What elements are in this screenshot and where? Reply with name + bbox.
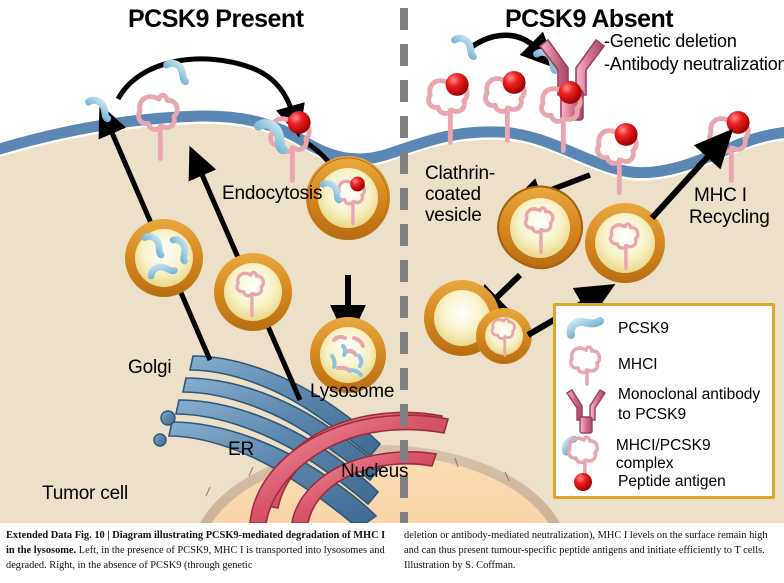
pcsk9-icon — [566, 316, 606, 342]
legend-item-antibody: Monoclonal antibody to PCSK9 — [566, 386, 760, 436]
pcsk9-molecule-right — [454, 36, 473, 60]
panel-title-right: PCSK9 Absent — [505, 6, 673, 32]
figure-canvas: PCSK9 Present PCSK9 Absent -Genetic dele… — [0, 0, 784, 523]
legend-item-mhc1: MHCI — [566, 344, 658, 386]
label-mhc1-recycling-line1: MHC I — [694, 186, 747, 206]
figure-page: PCSK9 Present PCSK9 Absent -Genetic dele… — [0, 0, 784, 583]
label-mhc1-recycling-line2: Recycling — [689, 208, 770, 228]
monoclonal-antibody — [540, 40, 604, 120]
label-golgi: Golgi — [128, 358, 171, 378]
vesicle-pcsk9 — [125, 219, 203, 297]
arrow-pcsk9-binding — [118, 59, 292, 112]
legend-item-peptide-antigen: Peptide antigen — [566, 470, 726, 494]
legend-label-peptide-antigen: Peptide antigen — [618, 473, 726, 491]
pcsk9-molecule-top — [166, 61, 185, 85]
antibody-icon — [566, 386, 606, 436]
label-endocytosis: Endocytosis — [222, 184, 322, 204]
vesicle-mhc1 — [214, 253, 292, 331]
pcsk9-molecule-left — [88, 98, 107, 122]
label-er: ER — [228, 440, 254, 460]
arrow-pcsk9-to-antibody — [470, 35, 536, 48]
legend-label-pcsk9: PCSK9 — [618, 320, 669, 338]
panel-title-left: PCSK9 Present — [128, 6, 304, 32]
legend-label-mhc1-pcsk9-complex: MHCI/PCSK9 complex — [616, 437, 772, 473]
legend-label-antibody-line1: Monoclonal antibody — [618, 386, 760, 404]
bullet-genetic-deletion: -Genetic deletion — [604, 32, 737, 51]
legend-item-pcsk9: PCSK9 — [566, 316, 669, 342]
clathrin-coated-vesicle — [498, 187, 582, 269]
label-lysosome: Lysosome — [310, 382, 394, 402]
caption-column-left: Extended Data Fig. 10 | Diagram illustra… — [6, 529, 394, 573]
bullet-antibody-neutralization: -Antibody neutralization — [604, 55, 784, 74]
legend-box: PCSK9 MHCI — [553, 303, 775, 499]
legend-label-mhc1: MHCI — [618, 356, 658, 374]
label-clathrin-coated-vesicle-line1: Clathrin- — [425, 164, 495, 184]
label-clathrin-coated-vesicle-line3: vesicle — [425, 206, 482, 226]
caption-column-right: deletion or antibody-mediated neutraliza… — [404, 529, 780, 573]
peptide-antigen-icon — [566, 470, 606, 494]
legend-label-antibody-line2: to PCSK9 — [618, 406, 760, 424]
label-clathrin-coated-vesicle-line2: coated — [425, 185, 481, 205]
label-tumor-cell: Tumor cell — [42, 484, 128, 504]
label-nucleus: Nucleus — [341, 462, 408, 482]
mhc1-icon — [566, 344, 606, 386]
figure-caption: Extended Data Fig. 10 | Diagram illustra… — [0, 527, 784, 583]
